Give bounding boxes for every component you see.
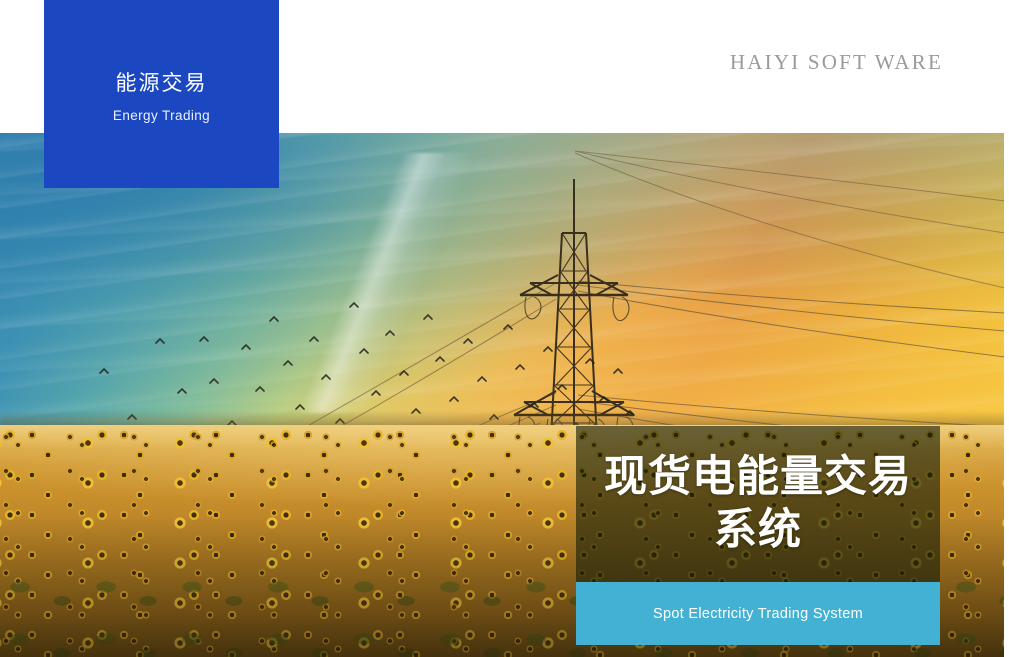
company-name: HAIYI SOFT WARE [730,50,943,75]
page-title: 现货电能量交易系统 [590,451,926,558]
subtitle-bar: Spot Electricity Trading System [576,582,940,645]
brand-box: 能源交易 Energy Trading [44,0,279,188]
brand-name-en: Energy Trading [113,108,210,123]
cover-slide: 能源交易 Energy Trading HAIYI SOFT WARE 现货电能… [0,0,1009,657]
brand-name-cn: 能源交易 [116,72,208,95]
title-overlay-box: 现货电能量交易系统 [576,426,940,582]
page-subtitle: Spot Electricity Trading System [653,606,863,622]
right-white-edge [1004,0,1009,657]
